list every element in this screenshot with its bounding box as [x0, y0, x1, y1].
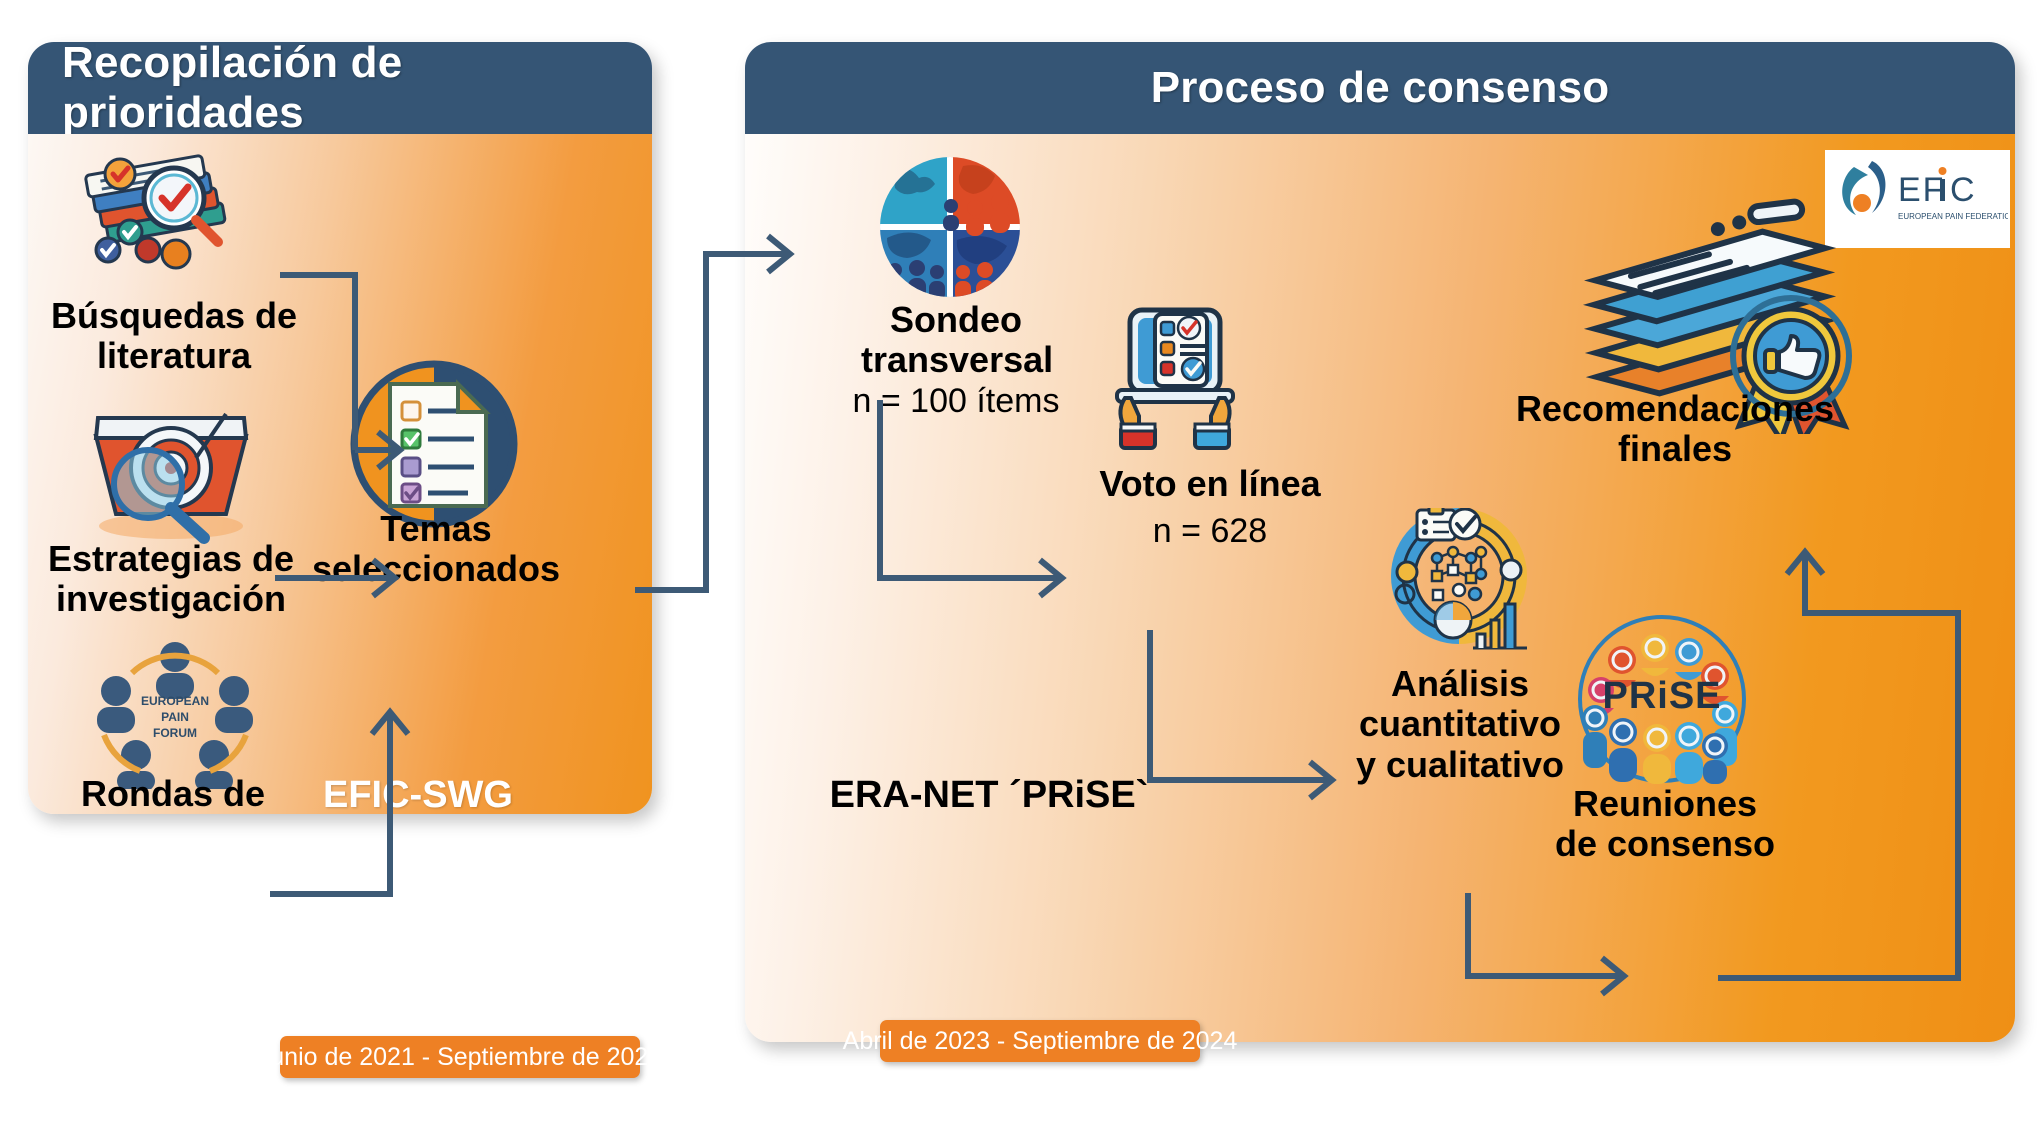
svg-text:EF: EF — [1898, 171, 1945, 209]
documents-magnifier-check-icon — [78, 154, 258, 284]
date-badge-efic-swg: Junio de 2021 - Septiembre de 2022 — [280, 1036, 640, 1078]
europe-globe-people-icon — [875, 152, 1025, 302]
panel-right-body: EF C EUROPEAN PAIN FEDERATION — [745, 134, 2015, 1042]
panel-priority-collection: Recopilación de prioridades — [28, 42, 652, 814]
node-label-online-vote: Voto en línea — [1065, 464, 1355, 504]
node-label-cross-sectional-survey: Sondeo transversal — [861, 300, 1051, 381]
panel-right-title: Proceso de consenso — [1151, 63, 1610, 113]
node-label-selected-topics: Temas seleccionados — [286, 509, 586, 590]
panel-right-header: Proceso de consenso — [745, 42, 2015, 134]
infographic-canvas: Recopilación de prioridades — [0, 0, 2040, 1131]
panel-left-body: EUROPEAN PAIN FORUM — [28, 134, 652, 814]
target-magnifier-icon — [76, 396, 266, 546]
svg-text:EUROPEAN: EUROPEAN — [141, 694, 209, 708]
svg-text:C: C — [1950, 171, 1977, 209]
svg-text:PRiSE: PRiSE — [1602, 675, 1721, 717]
checklist-document-circle-icon — [346, 356, 522, 532]
panel-left-header: Recopilación de prioridades — [28, 42, 652, 134]
date-badge-era-net-prise: Abril de 2023 - Septiembre de 2024 — [880, 1020, 1200, 1062]
node-sub-online-vote: n = 628 — [1065, 512, 1355, 550]
analysis-donut-chart-icon — [1381, 508, 1537, 656]
panel-consensus-process: Proceso de consenso EF C EUROPEAN PAIN F… — [745, 42, 2015, 1042]
panel-left-title: Recopilación de prioridades — [62, 42, 652, 138]
program-label-efic-swg: EFIC-SWG — [288, 774, 548, 814]
node-sub-cross-sectional-survey: n = 100 ítems — [831, 382, 1081, 420]
node-label-consensus-meetings: Reuniones de consenso — [1535, 784, 1795, 865]
svg-text:PAIN: PAIN — [161, 710, 189, 724]
european-pain-forum-people-icon: EUROPEAN PAIN FORUM — [80, 639, 270, 789]
node-label-literature-searches: Búsquedas de literatura — [34, 296, 314, 377]
svg-text:FORUM: FORUM — [153, 726, 197, 740]
node-label-final-recommendations: Recomendaciones finales — [1475, 389, 1875, 470]
svg-text:EUROPEAN PAIN FEDERATION: EUROPEAN PAIN FEDERATION — [1898, 212, 2008, 221]
program-label-era-net-prise: ERA-NET ´PRiSE` — [745, 774, 1339, 817]
node-label-expert-rounds: Rondas de expertos — [38, 774, 308, 814]
hands-holding-survey-icon — [1105, 306, 1245, 451]
node-label-quant-qual-analysis: Análisis cuantitativo y cualitativo — [1315, 664, 1605, 785]
node-label-research-strategies: Estrategias de investigación — [28, 539, 316, 620]
